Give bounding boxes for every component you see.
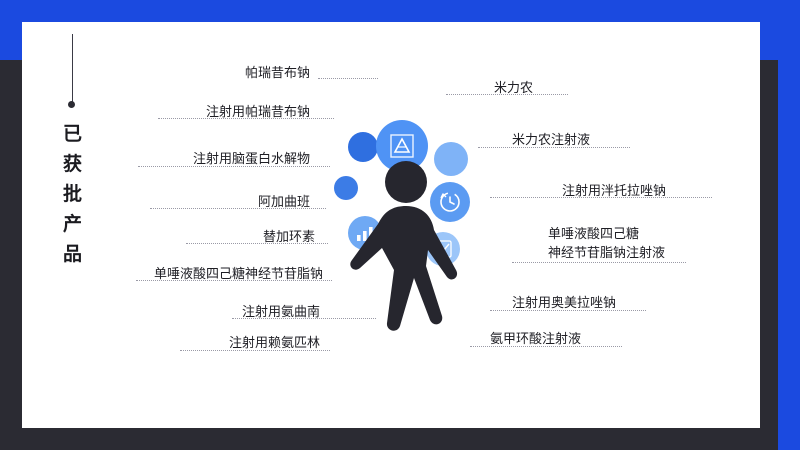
leader-left-8: [180, 350, 330, 352]
page-title-char-2: 获: [52, 150, 94, 180]
vertical-rule-dot: [68, 101, 75, 108]
slide-root: 已 获 批 产 品: [0, 0, 800, 450]
label-left-3: 注射用脑蛋白水解物: [110, 150, 310, 167]
page-title-char-1: 已: [52, 120, 94, 150]
label-right-4-line2: 神经节苷脂钠注射液: [548, 243, 665, 262]
vertical-rule: [72, 34, 73, 104]
label-left-1: 帕瑞昔布钠: [150, 64, 310, 81]
page-title-char-5: 品: [52, 240, 94, 270]
label-right-6: 氨甲环酸注射液: [490, 330, 581, 347]
leader-left-5: [186, 243, 328, 245]
label-right-4-line1: 单唾液酸四己糖: [548, 224, 665, 243]
background-blue-right-edge: [778, 0, 800, 450]
page-title-char-3: 批: [52, 180, 94, 210]
leader-left-7: [232, 318, 376, 320]
leader-left-6: [136, 280, 332, 282]
center-graphic: [330, 120, 490, 340]
leader-left-3: [138, 166, 330, 168]
label-right-5: 注射用奥美拉唑钠: [512, 294, 616, 311]
leader-right-4: [512, 262, 686, 264]
person-silhouette-icon: [330, 120, 490, 340]
leader-right-6: [470, 346, 622, 348]
label-right-4: 单唾液酸四己糖 神经节苷脂钠注射液: [548, 224, 665, 262]
leader-left-1: [318, 78, 378, 80]
label-right-2: 米力农注射液: [512, 131, 590, 148]
leader-left-2: [158, 118, 334, 120]
page-title-char-4: 产: [52, 210, 94, 240]
label-left-8: 注射用赖氨匹林: [140, 334, 320, 351]
leader-right-1: [446, 94, 568, 96]
leader-right-2: [478, 147, 630, 149]
leader-right-3: [490, 197, 712, 199]
leader-right-5: [490, 310, 646, 312]
leader-left-4: [150, 208, 326, 210]
page-title: 已 获 批 产 品: [52, 120, 94, 270]
